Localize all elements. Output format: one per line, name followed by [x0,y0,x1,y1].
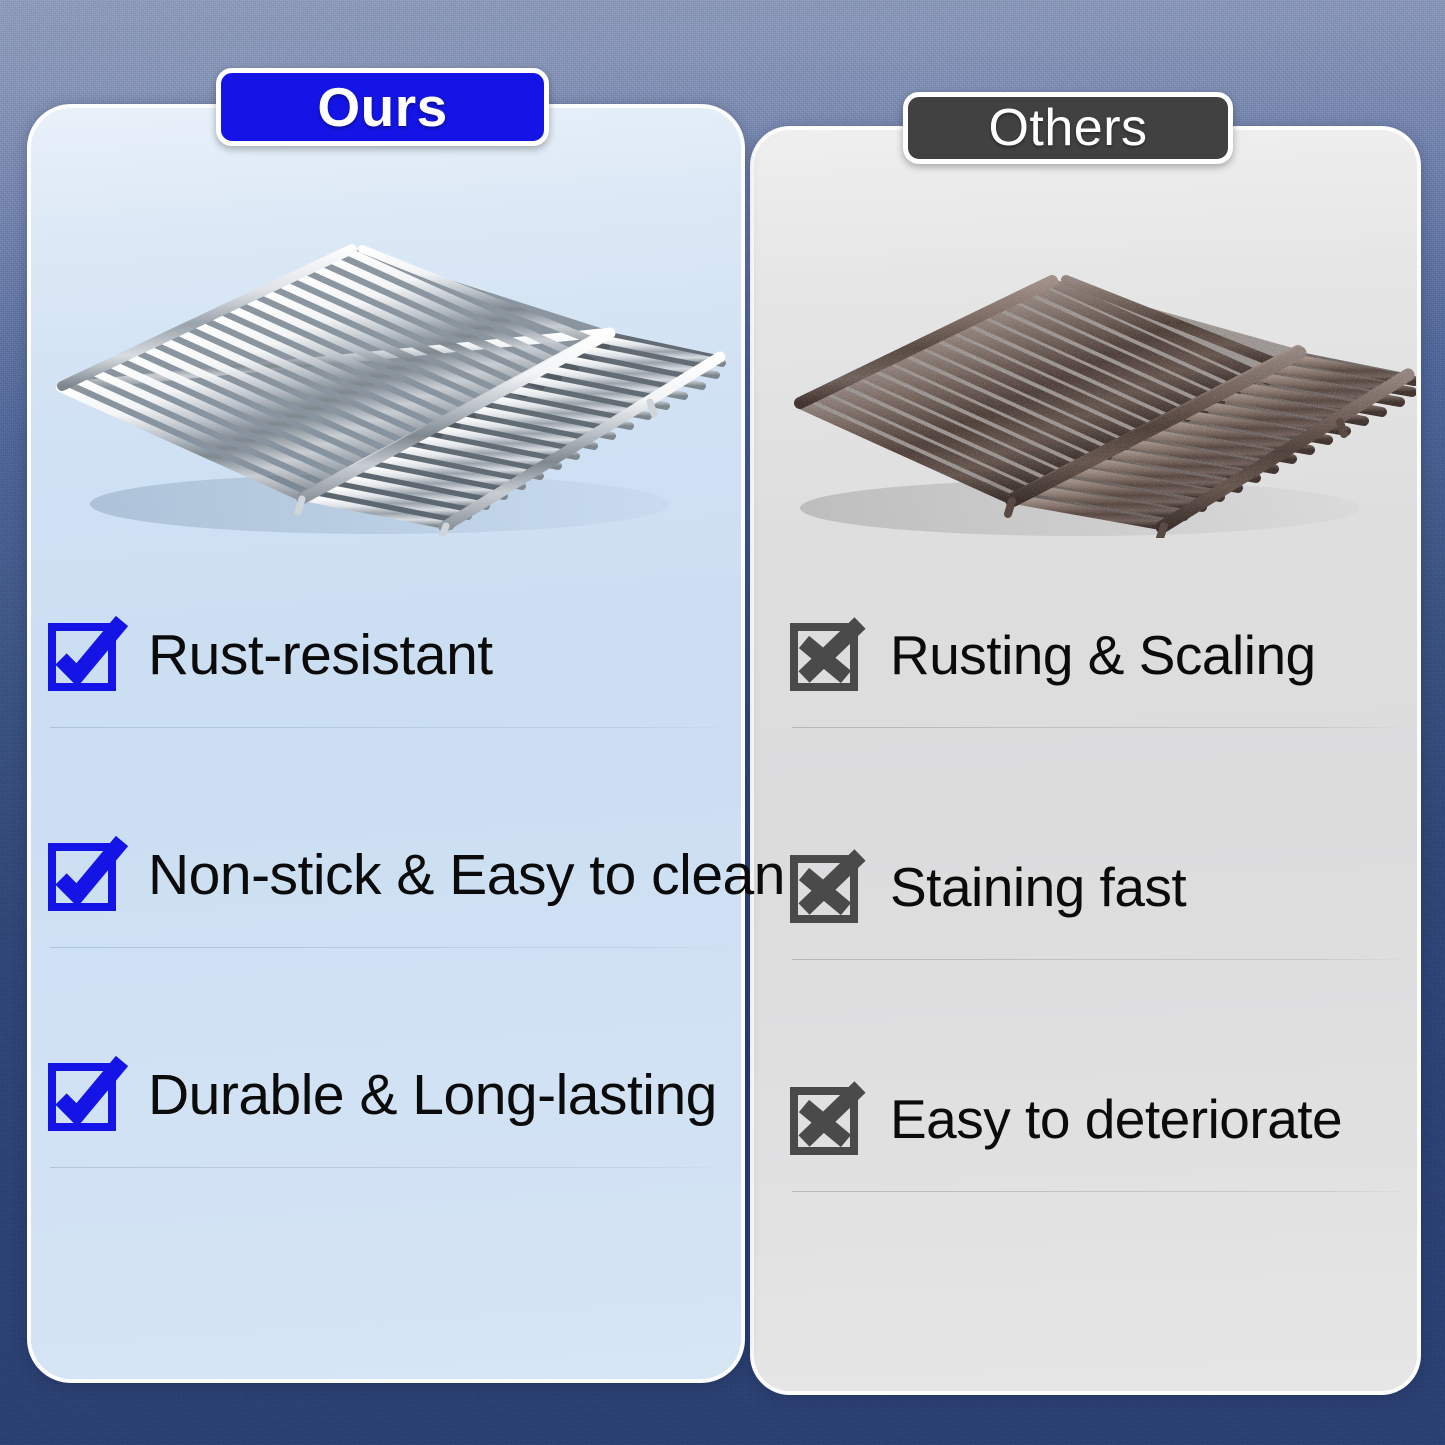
checkbox-crossed-icon [790,1083,864,1157]
comparison-infographic: Ours [0,0,1445,1445]
feature-label: Rust-resistant [148,626,493,686]
rusted-grill-grates-image [780,250,1416,538]
row-divider [50,947,738,948]
feature-label: Rusting & Scaling [890,627,1316,685]
feature-label: Durable & Long-lasting [148,1066,717,1126]
row-divider [50,1167,738,1168]
others-badge-label: Others [988,98,1147,158]
row-divider [50,727,738,728]
ours-feature-list: Rust-resistant Non-stick & Easy to clean… [48,600,724,1260]
checkbox-checked-icon [48,619,122,693]
feature-label: Easy to deteriorate [890,1091,1342,1149]
others-feature-list: Rusting & Scaling Staining fast [790,600,1400,1296]
feature-row: Staining fast [790,832,1400,944]
feature-row: Easy to deteriorate [790,1064,1400,1176]
feature-row: Non-stick & Easy to clean [48,820,724,932]
checkbox-checked-icon [48,1059,122,1133]
checkbox-crossed-icon [790,619,864,693]
ours-badge-label: Ours [317,75,447,139]
feature-label: Staining fast [890,859,1186,917]
checkbox-checked-icon [48,839,122,913]
feature-row: Durable & Long-lasting [48,1040,724,1152]
feature-row: Rusting & Scaling [790,600,1400,712]
checkbox-crossed-icon [790,851,864,925]
row-divider [792,1191,1414,1192]
row-divider [792,959,1414,960]
feature-label: Non-stick & Easy to clean [148,846,785,906]
stainless-steel-grill-grates-image [50,236,726,536]
feature-row: Rust-resistant [48,600,724,712]
others-badge: Others [903,92,1233,164]
ours-badge: Ours [216,68,549,146]
row-divider [792,727,1414,728]
